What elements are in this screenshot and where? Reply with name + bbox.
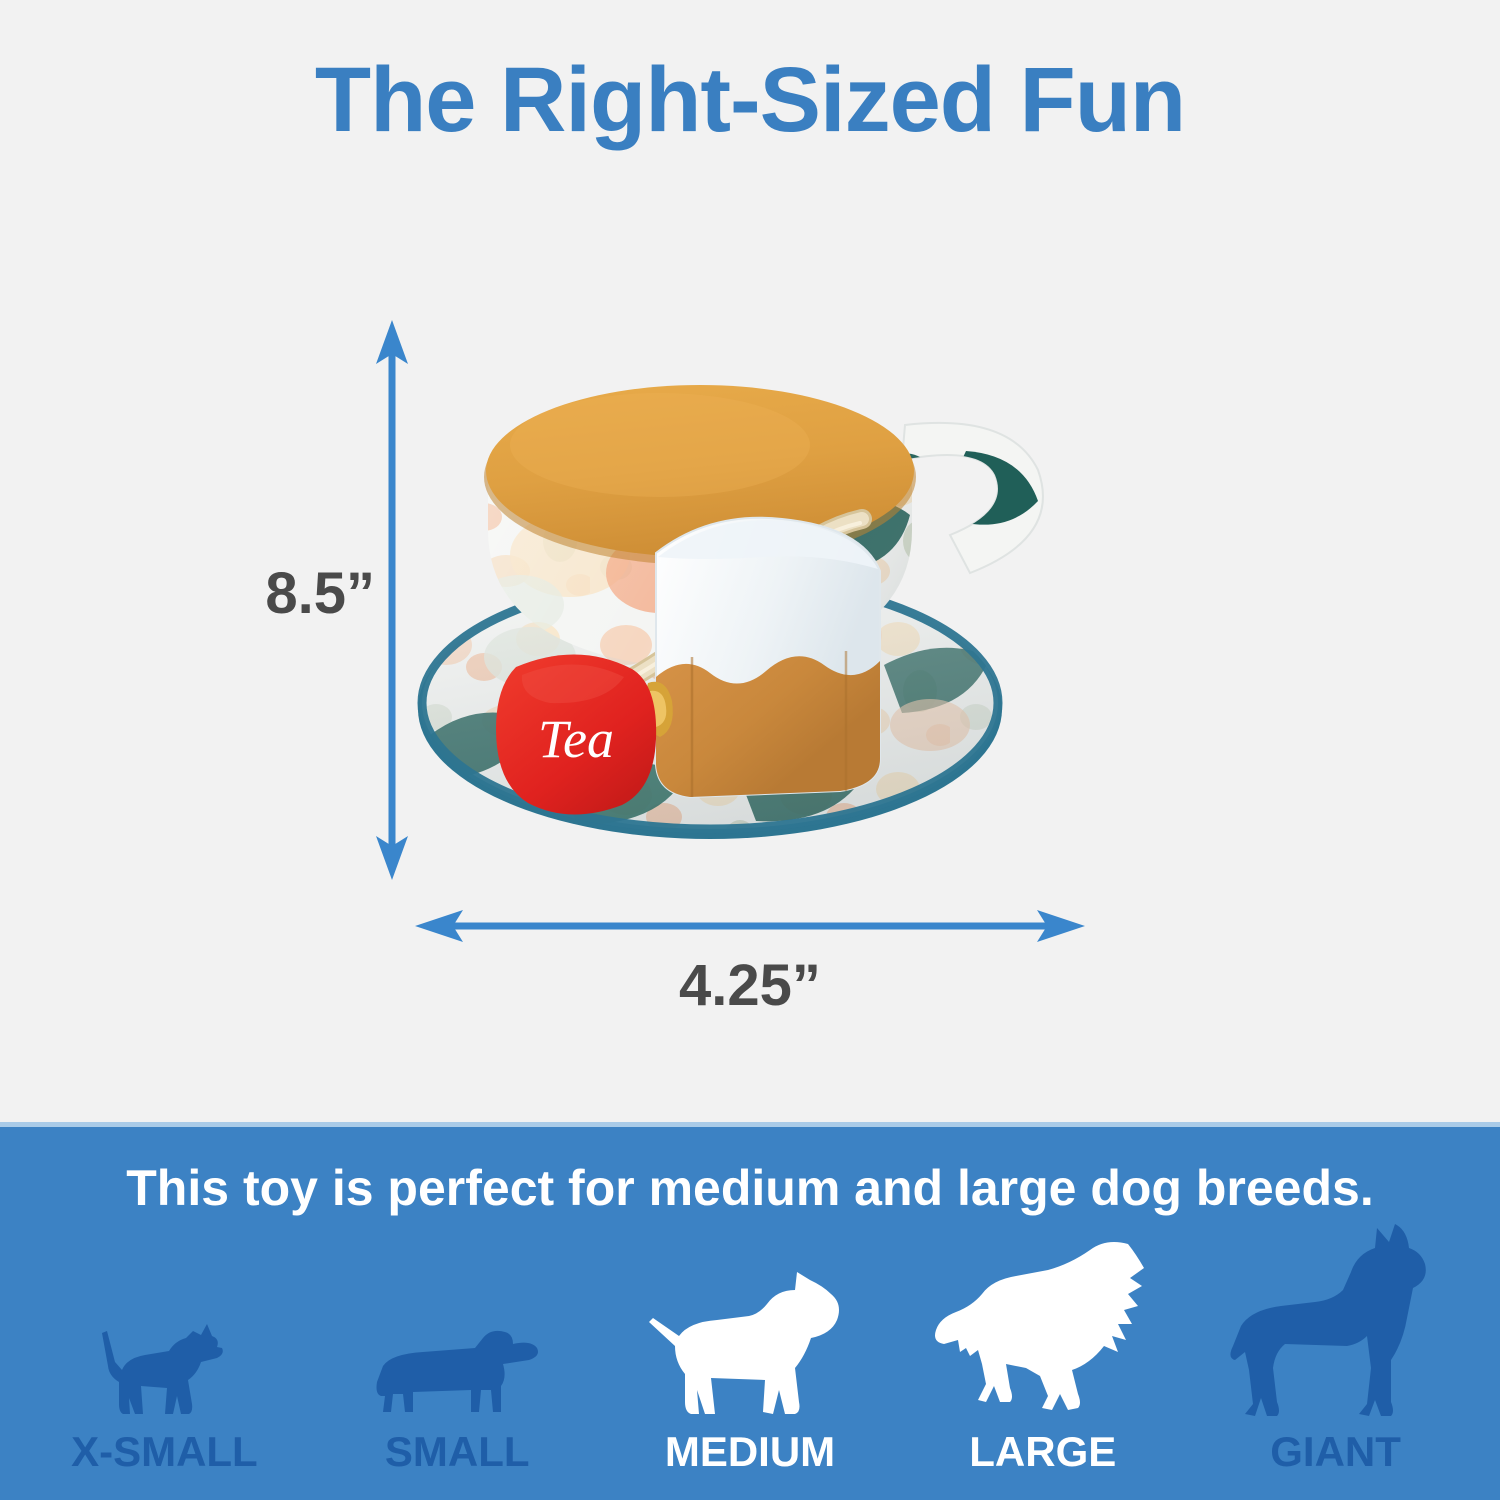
infographic-page: The Right-Sized Fun [0, 0, 1500, 1500]
size-option-x-small[interactable]: X-SMALL [18, 1227, 311, 1485]
product-zone: Tea 8.5” 4.25” [0, 180, 1500, 1122]
page-title: The Right-Sized Fun [0, 48, 1500, 153]
size-scale-row: X-SMALL SMALL MEDIUM [0, 1227, 1500, 1485]
teacup-handle [898, 423, 1043, 573]
height-dimension-label: 8.5” [255, 560, 375, 627]
header-zone: The Right-Sized Fun [0, 0, 1500, 180]
width-dimension-arrow [415, 908, 1085, 944]
chihuahua-silhouette-icon [89, 1314, 239, 1427]
size-banner: This toy is perfect for medium and large… [0, 1122, 1500, 1500]
tea-tag: Tea [496, 654, 656, 814]
size-option-giant[interactable]: GIANT [1189, 1227, 1482, 1485]
size-option-large[interactable]: LARGE [896, 1227, 1189, 1485]
size-option-medium[interactable]: MEDIUM [604, 1227, 897, 1485]
product-image: Tea [410, 305, 1100, 895]
size-label-giant: GIANT [1270, 1431, 1401, 1485]
size-label-small: SMALL [385, 1431, 530, 1485]
size-label-large: LARGE [969, 1431, 1116, 1485]
dachshund-silhouette-icon [371, 1320, 543, 1427]
size-option-small[interactable]: SMALL [311, 1227, 604, 1485]
size-label-x-small: X-SMALL [71, 1431, 258, 1485]
size-label-medium: MEDIUM [665, 1431, 835, 1485]
great-dane-silhouette-icon [1223, 1218, 1449, 1427]
height-dimension-arrow [375, 320, 409, 880]
width-dimension-label: 4.25” [415, 952, 1085, 1019]
golden-retriever-silhouette-icon [930, 1236, 1156, 1427]
tea-tag-text: Tea [538, 709, 614, 769]
teabag-pouch [642, 518, 880, 797]
bull-terrier-silhouette-icon [645, 1264, 855, 1427]
banner-headline: This toy is perfect for medium and large… [0, 1159, 1500, 1217]
